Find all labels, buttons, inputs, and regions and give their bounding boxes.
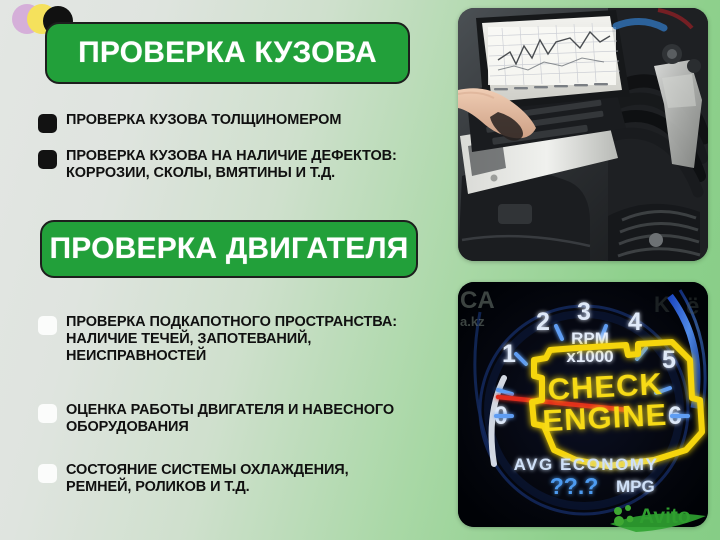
photo-watermark-line2: a.kz (460, 314, 485, 329)
check-engine-dashboard-photo: 0 1 2 3 4 5 6 RPM x1 (458, 282, 708, 527)
section-header-engine-check: ПРОВЕРКА ДВИГАТЕЛЯ (40, 220, 418, 278)
list-item-label: ПРОВЕРКА КУЗОВА НА НАЛИЧИЕ ДЕФЕКТОВ: КОР… (66, 148, 414, 182)
list-item: ПРОВЕРКА КУЗОВА ТОЛЩИНОМЕРОМ (38, 112, 341, 133)
bullet-marker-icon (38, 150, 57, 169)
bullet-marker-icon (38, 114, 57, 133)
list-item: ПРОВЕРКА КУЗОВА НА НАЛИЧИЕ ДЕФЕКТОВ: КОР… (38, 148, 414, 182)
tick-1: 1 (502, 340, 516, 368)
list-item-label: ПРОВЕРКА КУЗОВА ТОЛЩИНОМЕРОМ (66, 112, 341, 129)
photo-watermark-line1: CA (460, 287, 495, 314)
avg-economy-label: AVG ECONOMY (514, 455, 659, 474)
economy-value: ??.? (550, 473, 599, 499)
section-header-body-check-label: ПРОВЕРКА КУЗОВА (78, 38, 377, 68)
tick-3: 3 (577, 298, 591, 326)
list-item-label: СОСТОЯНИЕ СИСТЕМЫ ОХЛАЖДЕНИЯ, РЕМНЕЙ, РО… (66, 462, 414, 496)
section-header-engine-check-label: ПРОВЕРКА ДВИГАТЕЛЯ (50, 234, 409, 264)
list-item: ПРОВЕРКА ПОДКАПОТНОГО ПРОСТРАНСТВА: НАЛИ… (38, 314, 414, 365)
svg-text:K: K (654, 292, 670, 317)
tick-4: 4 (628, 308, 642, 336)
list-item: ОЦЕНКА РАБОТЫ ДВИГАТЕЛЯ И НАВЕСНОГО ОБОР… (38, 402, 414, 436)
tick-5: 5 (662, 346, 676, 374)
engine-diagnostics-photo (458, 8, 708, 261)
list-item-label: ОЦЕНКА РАБОТЫ ДВИГАТЕЛЯ И НАВЕСНОГО ОБОР… (66, 402, 414, 436)
svg-text:ë: ë (686, 293, 699, 320)
list-item: СОСТОЯНИЕ СИСТЕМЫ ОХЛАЖДЕНИЯ, РЕМНЕЙ, РО… (38, 462, 414, 496)
section-header-body-check: ПРОВЕРКА КУЗОВА (45, 22, 410, 84)
bullet-marker-icon (38, 316, 57, 335)
poster-canvas: ПРОВЕРКА КУЗОВА ПРОВЕРКА КУЗОВА ТОЛЩИНОМ… (0, 0, 720, 540)
bullet-marker-icon (38, 464, 57, 483)
list-item-label: ПРОВЕРКА ПОДКАПОТНОГО ПРОСТРАНСТВА: НАЛИ… (66, 314, 414, 365)
bullet-marker-icon (38, 404, 57, 423)
content-column: ПРОВЕРКА КУЗОВА ПРОВЕРКА КУЗОВА ТОЛЩИНОМ… (0, 0, 455, 540)
economy-unit: MPG (616, 477, 655, 496)
engine-text: ENGINE (542, 397, 669, 438)
tick-2: 2 (536, 308, 550, 336)
